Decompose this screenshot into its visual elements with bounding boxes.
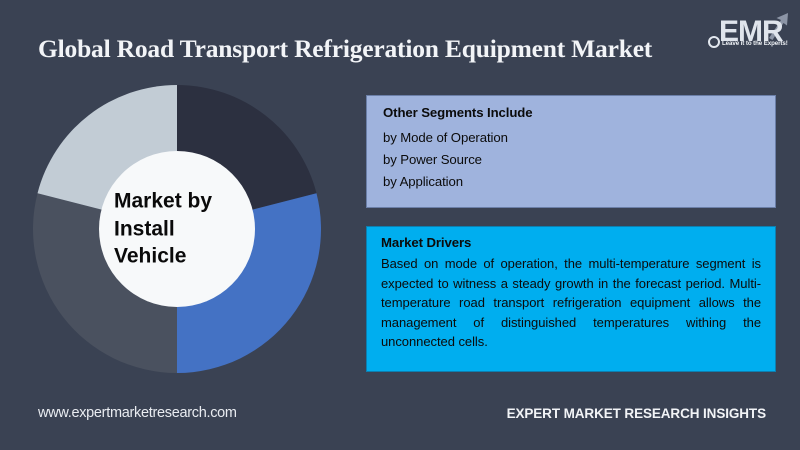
donut-hole bbox=[99, 151, 255, 307]
market-drivers-box: Market Drivers Based on mode of operatio… bbox=[366, 226, 776, 372]
donut-chart-svg bbox=[33, 85, 321, 373]
market-drivers-heading: Market Drivers bbox=[381, 235, 761, 250]
other-segments-item-0: by Mode of Operation bbox=[383, 127, 759, 149]
other-segments-item-2: by Application bbox=[383, 171, 759, 193]
footer-brand: EXPERT MARKET RESEARCH INSIGHTS bbox=[507, 406, 766, 421]
other-segments-item-1: by Power Source bbox=[383, 149, 759, 171]
slide-canvas: Global Road Transport Refrigeration Equi… bbox=[0, 0, 800, 450]
emr-logo: EMR Leave it to the Experts! bbox=[700, 8, 795, 60]
donut-chart: Market byInstallVehicle bbox=[33, 85, 321, 373]
other-segments-box: Other Segments Include by Mode of Operat… bbox=[366, 95, 776, 208]
emr-logo-tagline: Leave it to the Experts! bbox=[722, 40, 788, 47]
market-drivers-body: Based on mode of operation, the multi-te… bbox=[381, 254, 761, 352]
other-segments-heading: Other Segments Include bbox=[383, 105, 759, 120]
footer-url[interactable]: www.expertmarketresearch.com bbox=[38, 405, 237, 421]
page-title: Global Road Transport Refrigeration Equi… bbox=[38, 34, 652, 64]
